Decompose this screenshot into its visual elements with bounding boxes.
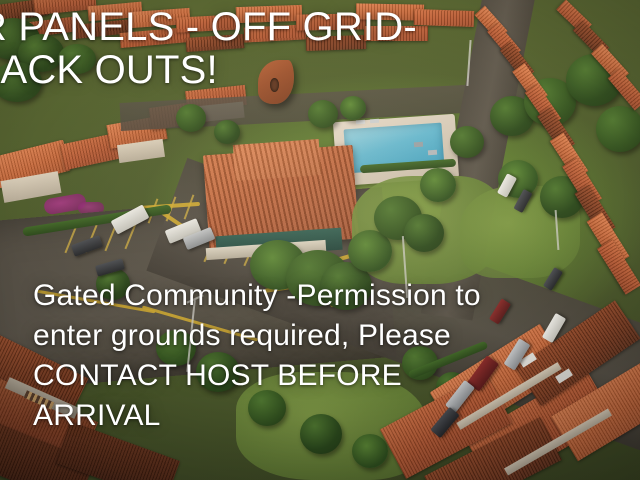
monument-aperture [270, 78, 279, 92]
lounge-chair [356, 120, 365, 125]
lounge-chair [414, 142, 423, 148]
listing-photo-viewer: R PANELS - OFF GRID- LACK OUTS! Gated Co… [0, 0, 640, 480]
lounge-chair [370, 119, 379, 124]
aerial-photo [0, 0, 640, 480]
lounge-chair [428, 150, 437, 156]
